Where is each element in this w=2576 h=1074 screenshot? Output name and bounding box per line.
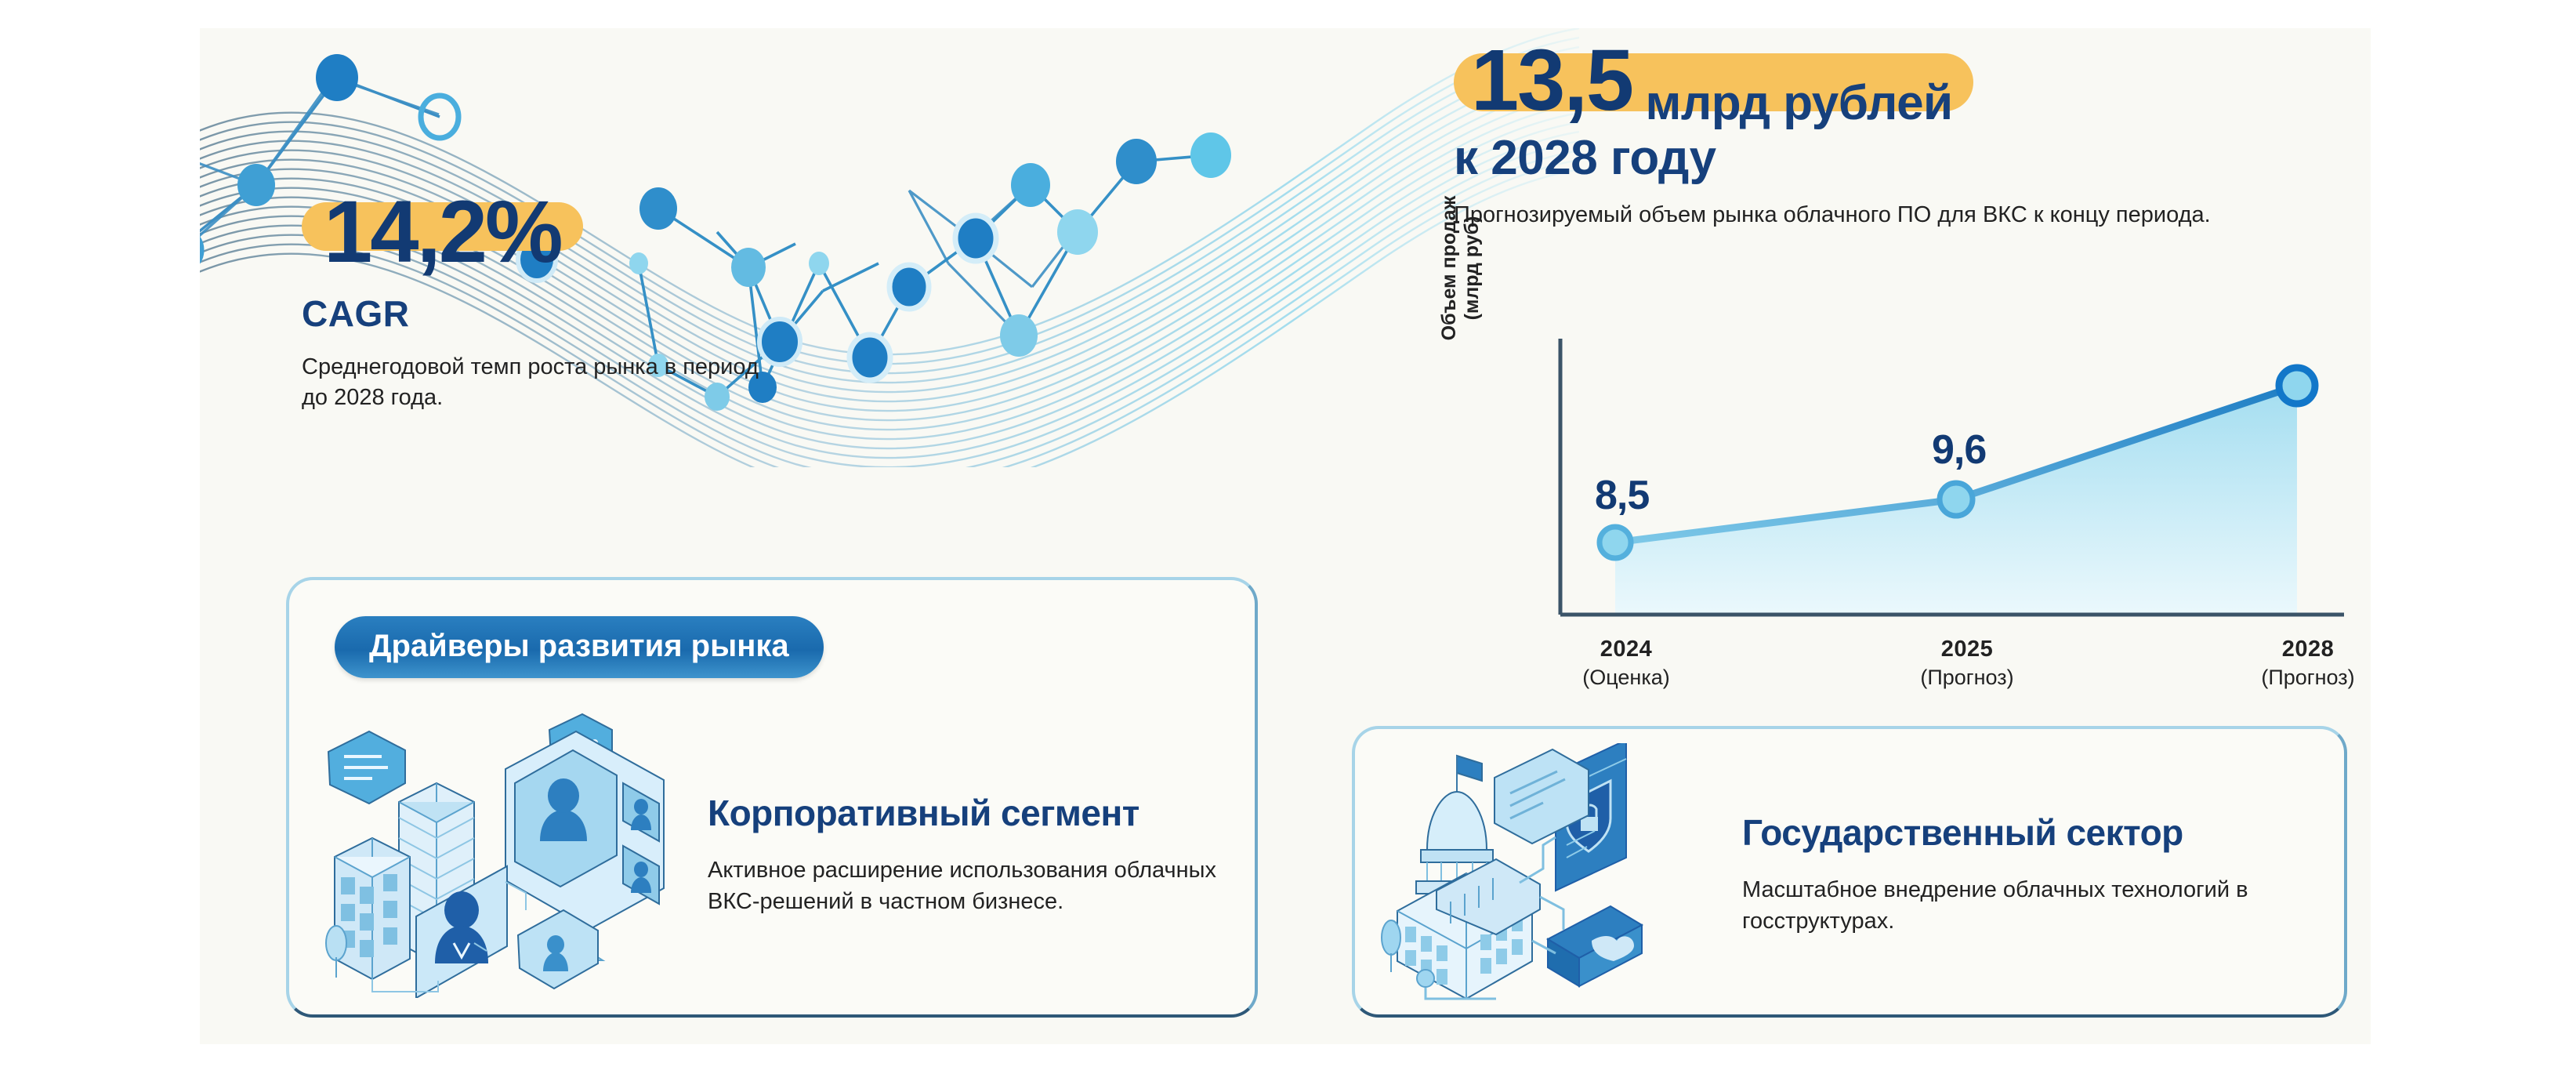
chart-x-tick-labels: 2024 (Оценка) 2025 (Прогноз) 2028 (Прогн… xyxy=(1548,637,2363,699)
chart-point-2025 xyxy=(1940,483,1973,516)
market-drivers-badge: Драйверы развития рынка xyxy=(335,616,824,678)
chart-data-label-2025: 9,6 xyxy=(1932,426,1986,474)
chart-y-axis-label: Объем продаж (млрд руб) xyxy=(1438,151,1484,386)
market-value-year: к 2028 году xyxy=(1454,130,2347,186)
cagr-value: 14,2% xyxy=(324,190,561,274)
government-description: Масштабное внедрение облачных технологий… xyxy=(1742,874,2327,937)
government-title: Государственный сектор xyxy=(1742,811,2327,854)
market-value-unit: млрд рублей xyxy=(1646,74,1953,132)
corporate-title: Корпоративный сегмент xyxy=(708,792,1230,834)
chart-data-label-2024: 8,5 xyxy=(1595,472,1649,519)
market-value-pill: 13,5 млрд рублей xyxy=(1454,53,1973,111)
chart-x-tick-2028-note: (Прогноз) xyxy=(2222,666,2371,690)
card-government-sector: Государственный сектор Масштабное внедре… xyxy=(1352,726,2347,1018)
cagr-value-pill: 14,2% xyxy=(302,202,583,251)
cagr-label: CAGR xyxy=(302,292,788,335)
chart-y-axis-label-units: (млрд руб) xyxy=(1461,216,1483,321)
chart-x-tick-2025-note: (Прогноз) xyxy=(1881,666,2053,690)
chart-x-tick-2024: 2024 (Оценка) xyxy=(1540,637,1712,690)
card-corporate-segment: Драйверы развития рынка xyxy=(286,577,1258,1018)
stat-cagr: 14,2% CAGR Среднегодовой темп роста рынк… xyxy=(302,202,788,414)
chart-y-axis-label-text: Объем продаж xyxy=(1438,196,1460,341)
chart-point-2028 xyxy=(2279,368,2315,404)
chart-x-tick-2025: 2025 (Прогноз) xyxy=(1881,637,2053,690)
infographic-panel: 14,2% CAGR Среднегодовой темп роста рынк… xyxy=(200,28,2371,1044)
market-value: 13,5 xyxy=(1471,39,1632,122)
cagr-description: Среднегодовой темп роста рынка в период … xyxy=(302,352,788,414)
market-value-description: Прогнозируемый объем рынка облачного ПО … xyxy=(1454,200,2347,230)
chart-point-2024 xyxy=(1600,527,1631,558)
corporate-description: Активное расширение использования облачн… xyxy=(708,854,1230,917)
stat-market-volume: 13,5 млрд рублей к 2028 году Прогнозируе… xyxy=(1454,53,2347,230)
corporate-illustration xyxy=(321,708,689,1002)
chart-x-tick-2028-year: 2028 xyxy=(2222,637,2371,662)
chart-x-tick-2024-note: (Оценка) xyxy=(1540,666,1712,690)
chart-x-tick-2025-year: 2025 xyxy=(1881,637,2053,662)
chart-x-tick-2024-year: 2024 xyxy=(1540,637,1712,662)
government-illustration xyxy=(1379,743,1723,1006)
sales-volume-line-chart: Объем продаж (млрд руб) xyxy=(1446,339,2371,699)
chart-x-tick-2028: 2028 (Прогноз) xyxy=(2222,637,2371,690)
